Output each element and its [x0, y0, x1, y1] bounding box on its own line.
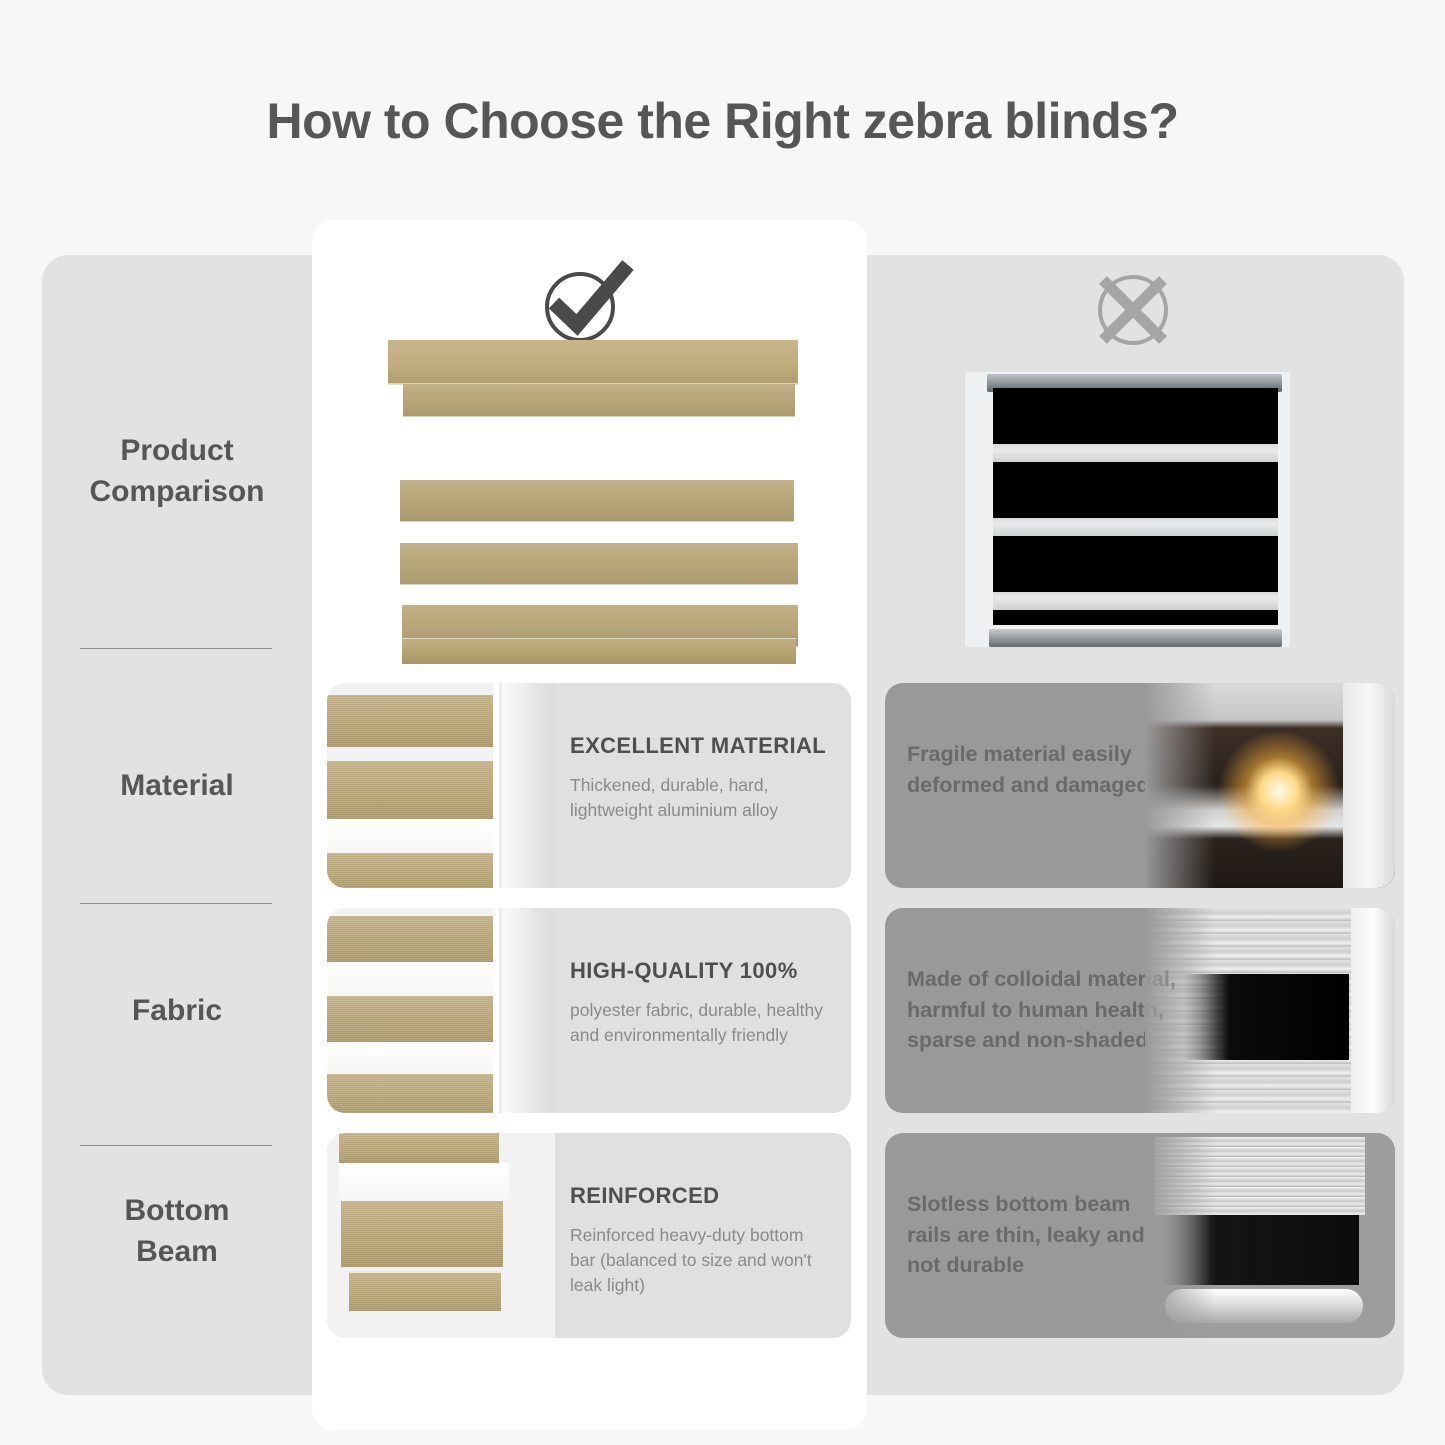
blind-slat [400, 480, 794, 522]
bad-feature-photo [1145, 908, 1395, 1113]
category-label-text: Bottom Beam [125, 1194, 230, 1268]
blind-striped-body [993, 388, 1278, 625]
category-label-product-comparison: Product Comparison [42, 430, 312, 513]
category-label-text: Product Comparison [89, 434, 264, 508]
good-feature-body: polyester fabric, durable, healthy and e… [570, 998, 833, 1048]
window-frame [493, 683, 555, 888]
rail-divider-3 [80, 1145, 272, 1146]
bad-feature-card-bottom-beam: Slotless bottom beam rails are thin, lea… [885, 1133, 1395, 1338]
good-feature-card-material: EXCELLENT MATERIAL Thickened, durable, h… [327, 683, 851, 888]
window-frame [493, 908, 555, 1113]
blind-slat [400, 543, 798, 585]
check-circle-icon [528, 255, 638, 351]
category-label-text: Material [120, 769, 233, 802]
category-label-material: Material [42, 765, 312, 806]
good-feature-text-block: EXCELLENT MATERIAL Thickened, durable, h… [570, 733, 833, 823]
blind-headrail [388, 340, 798, 384]
blind-bottom-rail [989, 629, 1282, 647]
good-feature-heading: EXCELLENT MATERIAL [570, 733, 833, 759]
good-feature-card-fabric: HIGH-QUALITY 100% polyester fabric, dura… [327, 908, 851, 1113]
category-label-rail: Product Comparison Material Fabric Botto… [42, 255, 312, 1395]
good-feature-heading: HIGH-QUALITY 100% [570, 958, 833, 984]
category-label-text: Fabric [132, 994, 222, 1027]
good-feature-heading: REINFORCED [570, 1183, 833, 1209]
good-feature-body: Reinforced heavy-duty bottom bar (balanc… [570, 1223, 833, 1298]
recommended-blind-hero-image [388, 340, 798, 665]
blind-slat [403, 384, 795, 417]
rail-divider-2 [80, 903, 272, 904]
bad-feature-photo [1145, 1133, 1395, 1338]
good-feature-photo [327, 908, 555, 1113]
bad-feature-text: Made of colloidal material, harmful to h… [907, 964, 1177, 1056]
blind-bottom-bar [402, 638, 796, 664]
bad-feature-text: Fragile material easily deformed and dam… [907, 739, 1177, 800]
bad-feature-photo [1145, 683, 1395, 888]
not-recommended-blind-hero-image [965, 372, 1290, 647]
cross-circle-icon [1078, 262, 1188, 358]
good-feature-photo [327, 1133, 555, 1338]
bad-feature-card-fabric: Made of colloidal material, harmful to h… [885, 908, 1395, 1113]
category-label-bottom-beam: Bottom Beam [42, 1190, 312, 1273]
category-label-fabric: Fabric [42, 990, 312, 1031]
rail-divider-1 [80, 648, 272, 649]
good-feature-text-block: REINFORCED Reinforced heavy-duty bottom … [570, 1183, 833, 1298]
page-title: How to Choose the Right zebra blinds? [0, 92, 1445, 150]
bad-feature-text: Slotless bottom beam rails are thin, lea… [907, 1189, 1177, 1281]
good-feature-card-bottom-beam: REINFORCED Reinforced heavy-duty bottom … [327, 1133, 851, 1338]
good-feature-body: Thickened, durable, hard, lightweight al… [570, 773, 833, 823]
bad-feature-card-material: Fragile material easily deformed and dam… [885, 683, 1395, 888]
good-feature-text-block: HIGH-QUALITY 100% polyester fabric, dura… [570, 958, 833, 1048]
good-feature-photo [327, 683, 555, 888]
